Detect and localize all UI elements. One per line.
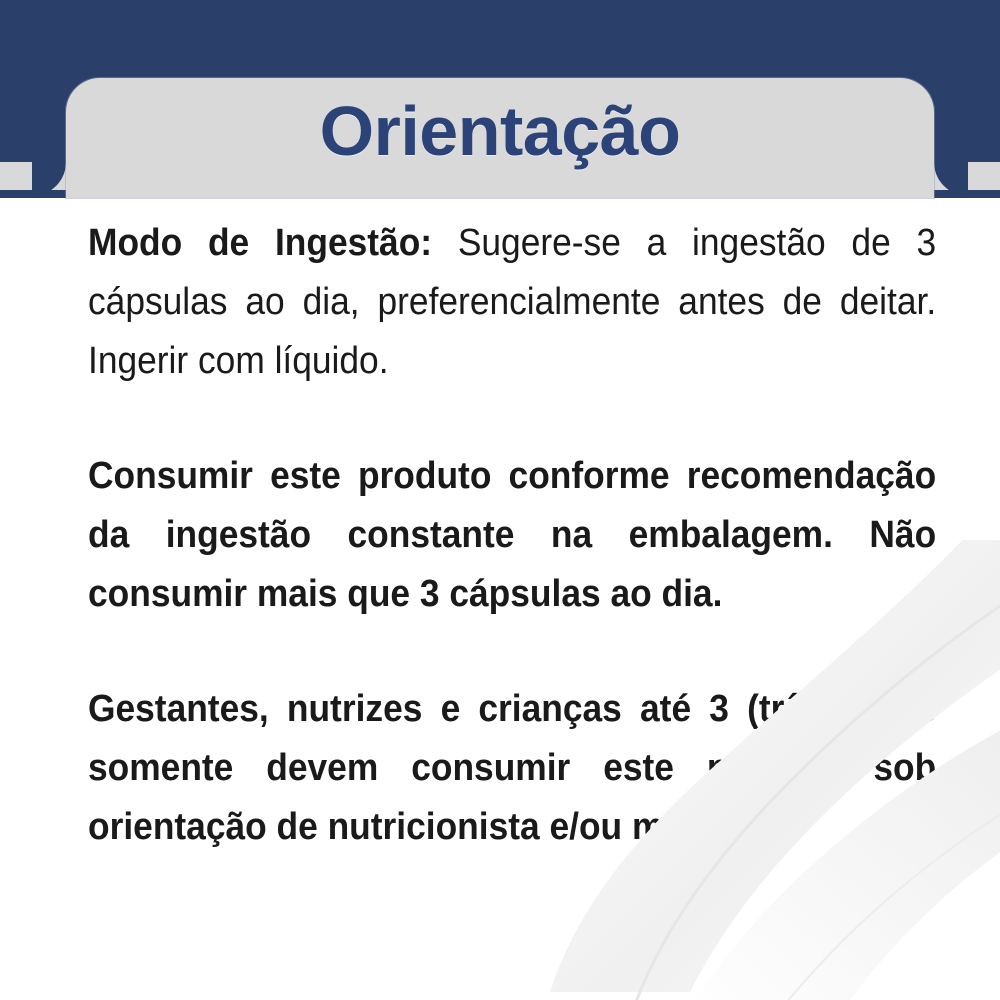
paragraph-gestantes-nutrizes-criancas: Gestantes, nutrizes e crianças até 3 (tr… (88, 680, 936, 857)
paragraph-lead-label: Modo de Ingestão: (88, 222, 432, 264)
paragraph-body-text: Consumir este produto conforme recomenda… (88, 455, 936, 615)
paragraph-modo-de-ingestao: Modo de Ingestão: Sugere-se a ingestão d… (88, 214, 936, 391)
paragraph-consumo-conforme-recomendacao: Consumir este produto conforme recomenda… (88, 447, 936, 624)
page-title: Orientação (66, 92, 934, 170)
orientacao-panel: Orientação Modo de Ingestão: Sugere-se a… (0, 0, 1000, 1000)
instructions-content: Modo de Ingestão: Sugere-se a ingestão d… (88, 214, 936, 857)
panel-header: Orientação (0, 0, 1000, 198)
paragraph-body-text: Gestantes, nutrizes e crianças até 3 (tr… (88, 688, 936, 848)
